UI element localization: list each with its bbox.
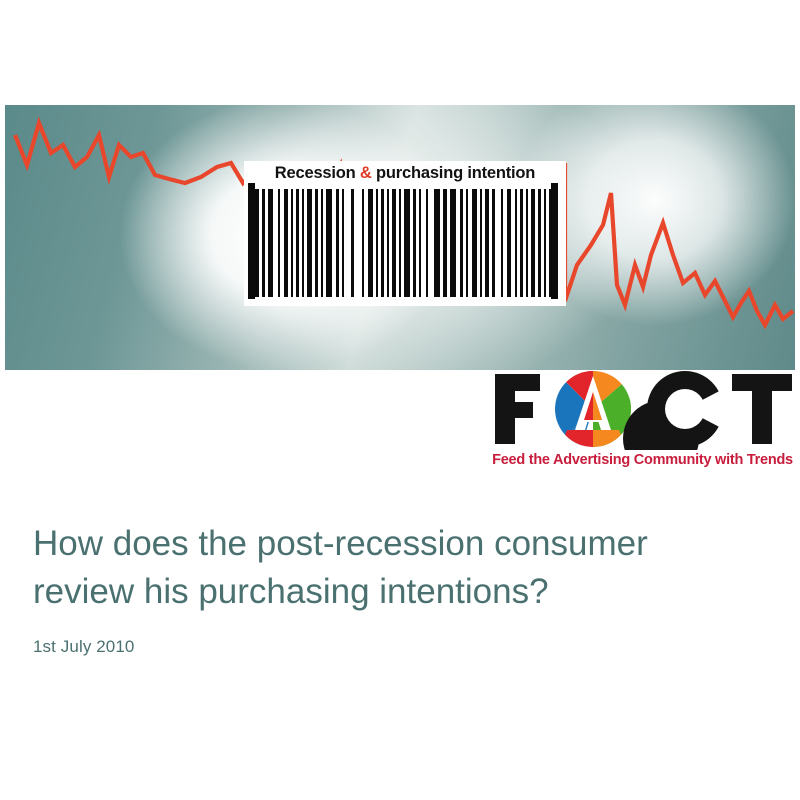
fact-wordmark-graphic	[489, 368, 796, 450]
barcode-caption-after: purchasing intention	[372, 164, 536, 182]
page-title: How does the post-recession consumer rev…	[33, 520, 733, 615]
fact-logo: Feed the Advertising Community with Tren…	[489, 368, 796, 478]
presentation-date: 1st July 2010	[33, 637, 763, 657]
hero-banner: Recession & purchasing intention	[5, 105, 795, 370]
logo-letter-t	[732, 374, 792, 444]
barcode-graphic: Recession & purchasing intention	[244, 161, 566, 306]
logo-letter-c	[623, 371, 729, 450]
barcode-caption-ampersand: &	[360, 164, 372, 182]
logo-letter-a-circle	[549, 368, 635, 450]
barcode-bars	[252, 189, 558, 297]
barcode-caption-before: Recession	[275, 164, 360, 182]
title-block: How does the post-recession consumer rev…	[33, 520, 763, 657]
title-slide: Recession & purchasing intention	[0, 0, 800, 800]
fact-tagline: Feed the Advertising Community with Tren…	[489, 452, 796, 468]
logo-letter-f	[495, 374, 540, 444]
barcode-caption: Recession & purchasing intention	[244, 164, 566, 183]
